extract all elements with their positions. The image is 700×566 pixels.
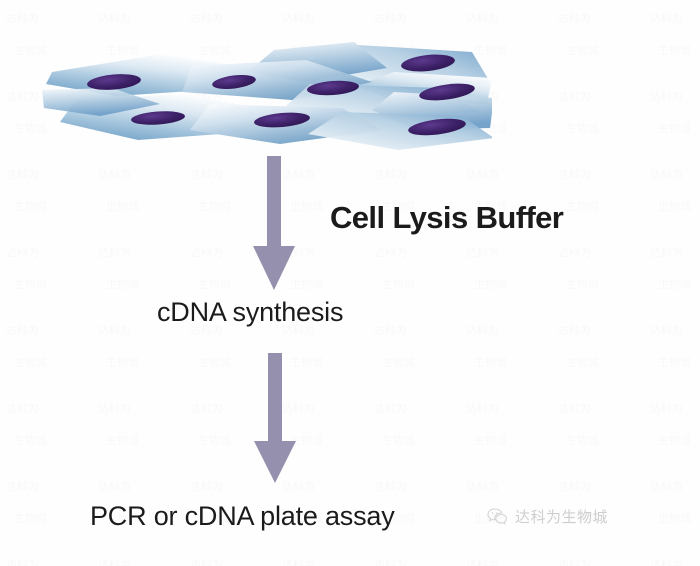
label-cell-lysis-buffer: Cell Lysis Buffer (330, 200, 563, 236)
corner-watermark: 达科为生物城 (486, 505, 608, 527)
flow-arrow-to-pcr-assay (252, 353, 298, 483)
label-cdna-synthesis: cDNA synthesis (157, 297, 343, 328)
corner-watermark-text: 达科为生物城 (515, 506, 608, 527)
flow-arrow-to-cdna-synthesis (251, 156, 297, 290)
cell-monolayer-illustration (42, 38, 492, 158)
wechat-logo-icon (486, 505, 508, 527)
figure-canvas: 达科为 生物城 (0, 0, 700, 566)
label-pcr-or-cdna-plate-assay: PCR or cDNA plate assay (90, 501, 395, 532)
